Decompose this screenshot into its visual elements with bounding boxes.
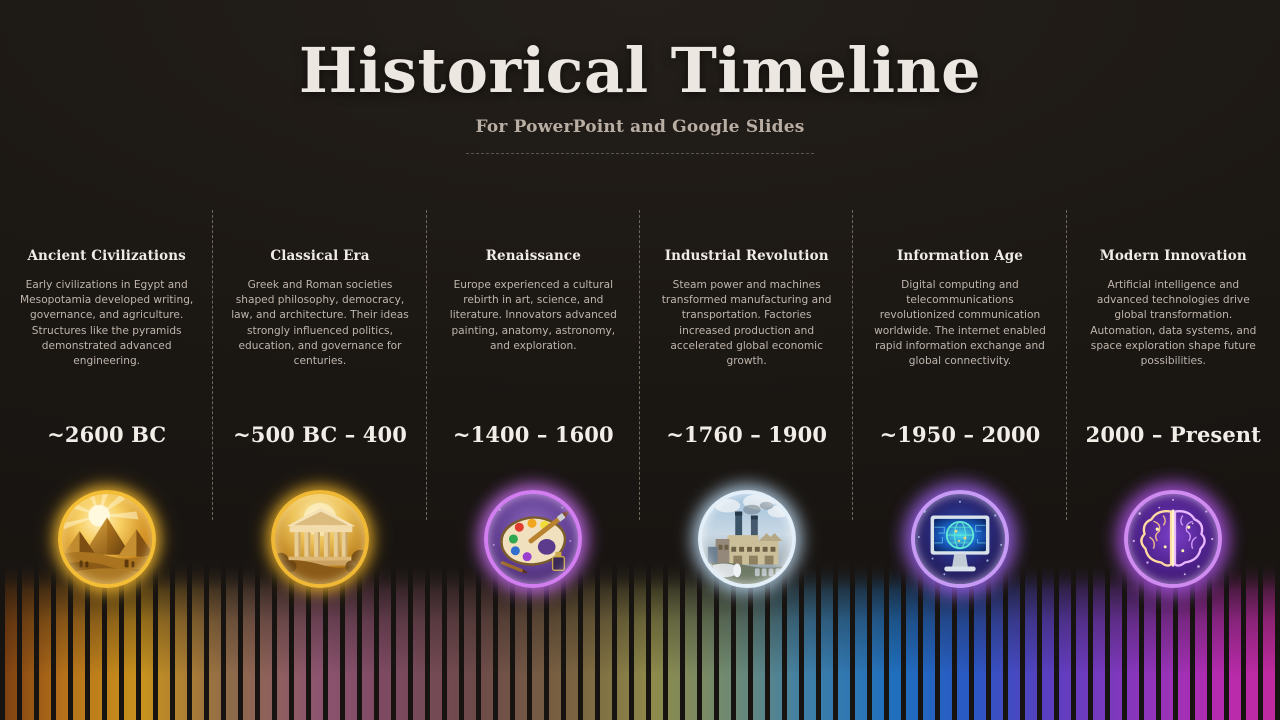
column-date: ~2600 BC [0, 422, 213, 447]
icon-cell [0, 490, 213, 594]
column-date: ~1400 – 1600 [427, 422, 640, 447]
icon-disc [484, 490, 582, 588]
column-description: Digital computing and telecommunications… [867, 278, 1052, 369]
icon-cell [1067, 490, 1280, 594]
icon-disc [911, 490, 1009, 588]
column-description: Europe experienced a cultural rebirth in… [441, 278, 626, 354]
column-date: 2000 – Present [1067, 422, 1280, 447]
timeline-column-renaissance[interactable]: Renaissance Europe experienced a cultura… [427, 210, 640, 520]
column-date: ~1760 – 1900 [640, 422, 853, 447]
brain-ai-icon[interactable] [1124, 490, 1222, 588]
slide-canvas: Historical Timeline For PowerPoint and G… [0, 0, 1280, 720]
pyramids-icon[interactable] [58, 490, 156, 588]
column-description: Steam power and machines transformed man… [654, 278, 839, 369]
paint-palette-icon[interactable] [484, 490, 582, 588]
icon-cell [427, 490, 640, 594]
column-title: Industrial Revolution [654, 248, 839, 264]
timeline-column-information-age[interactable]: Information Age Digital computing and te… [853, 210, 1066, 520]
header-divider [466, 153, 814, 154]
computer-globe-icon[interactable] [911, 490, 1009, 588]
timeline-column-ancient-civilizations[interactable]: Ancient Civilizations Early civilization… [0, 210, 213, 520]
column-title: Classical Era [227, 248, 412, 264]
icon-cell [853, 490, 1066, 594]
column-date: ~1950 – 2000 [853, 422, 1066, 447]
timeline-icons [0, 490, 1280, 594]
icon-cell [640, 490, 853, 594]
column-title: Information Age [867, 248, 1052, 264]
column-title: Ancient Civilizations [14, 248, 199, 264]
column-description: Early civilizations in Egypt and Mesopot… [14, 278, 199, 369]
icon-cell [213, 490, 426, 594]
icon-disc [1124, 490, 1222, 588]
column-description: Greek and Roman societies shaped philoso… [227, 278, 412, 369]
timeline-column-classical-era[interactable]: Classical Era Greek and Roman societies … [213, 210, 426, 520]
timeline-column-modern-innovation[interactable]: Modern Innovation Artificial intelligenc… [1067, 210, 1280, 520]
timeline-columns: Ancient Civilizations Early civilization… [0, 210, 1280, 520]
icon-disc [698, 490, 796, 588]
column-date: ~500 BC – 400 [213, 422, 426, 447]
greek-temple-icon[interactable] [271, 490, 369, 588]
page-subtitle: For PowerPoint and Google Slides [0, 117, 1280, 137]
column-description: Artificial intelligence and advanced tec… [1081, 278, 1266, 369]
column-title: Modern Innovation [1081, 248, 1266, 264]
timeline-column-industrial-revolution[interactable]: Industrial Revolution Steam power and ma… [640, 210, 853, 520]
icon-disc [58, 490, 156, 588]
column-title: Renaissance [441, 248, 626, 264]
factory-icon[interactable] [698, 490, 796, 588]
page-title: Historical Timeline [0, 38, 1280, 105]
icon-disc [271, 490, 369, 588]
header: Historical Timeline For PowerPoint and G… [0, 38, 1280, 154]
